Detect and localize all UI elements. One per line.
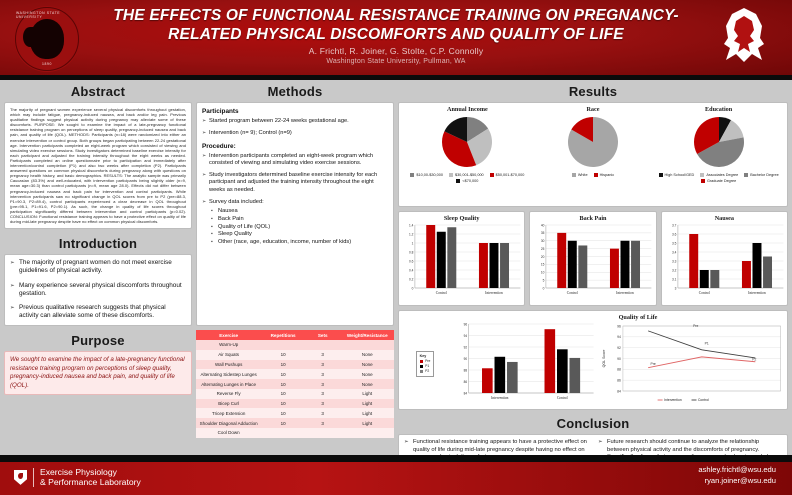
chart-education: Education High School/GEDAssociates Degr… [652, 103, 785, 206]
table-row: Cool Down [196, 428, 394, 438]
col-sets: Sets [305, 330, 341, 340]
legend-item: $50,001-$70,000 [490, 173, 525, 177]
list-item: Started program between 22-24 weeks gest… [202, 118, 388, 125]
procedure-list: Intervention participants completed an e… [202, 153, 388, 207]
y-axis-tick: 0.4 [409, 268, 414, 272]
pie-annual-income [432, 114, 502, 172]
table-cell: 10 [261, 399, 305, 409]
table-cell: 3 [305, 418, 341, 428]
bar [545, 329, 556, 393]
y-axis-tick: 84 [618, 389, 622, 393]
bar [495, 357, 506, 393]
y-axis-tick: 90 [618, 357, 622, 361]
bar [482, 368, 493, 393]
purpose-heading: Purpose [4, 333, 192, 348]
table-cell: 10 [261, 360, 305, 370]
purpose-card: We sought to examine the impact of a lat… [4, 351, 192, 395]
legend-label: P2 [425, 369, 429, 374]
y-axis-tick: 1.2 [409, 232, 414, 236]
x-axis-label: Intervention [491, 396, 508, 400]
participants-heading: Participants [202, 108, 388, 115]
table-cell: Air Squats [196, 350, 261, 360]
y-axis-tick: 30 [541, 239, 545, 243]
table-cell: Reverse Fly [196, 389, 261, 399]
university-crest-icon: WASHINGTON STATE UNIVERSITY 1890 [14, 6, 80, 72]
chart-race: Race WhiteHispanic [534, 103, 653, 206]
list-item: Nausea [211, 208, 388, 216]
table-row: Shoulder Diagonal Adduction103Light [196, 418, 394, 428]
bar [610, 249, 619, 288]
introduction-bullets: The majority of pregnant women do not me… [10, 259, 186, 320]
y-axis-tick: 86 [618, 378, 622, 382]
y-axis-title: QOL Score [602, 350, 606, 368]
table-cell: 10 [261, 369, 305, 379]
legend-annual-income: $10,00-$30,000$30,001-$50,000$50,001-$70… [401, 173, 534, 183]
table-row: Tricep Extension103Light [196, 408, 394, 418]
table-row: Bicep Curl103Light [196, 399, 394, 409]
conclusion-heading: Conclusion [398, 416, 788, 431]
table-header-row: Exercise Repetitions Sets Weight/Resista… [196, 330, 394, 340]
data-annotation: P1 [705, 341, 709, 345]
chart-title: Annual Income [401, 106, 534, 113]
abstract-card: The majority of pregnant women experienc… [4, 102, 192, 229]
y-axis-tick: 3.1 [672, 277, 677, 281]
table-cell [305, 340, 341, 350]
y-axis-tick: 3.5 [672, 241, 677, 245]
table-cell [341, 340, 395, 350]
crest-top-text: WASHINGTON STATE UNIVERSITY [16, 11, 78, 19]
legend-education: High School/GEDAssociates DegreeBachelor… [652, 173, 785, 183]
bar-chart-sleep-quality: 00.20.40.60.811.21.4ControlIntervention [399, 222, 524, 300]
legend-label: <$70,000 [462, 179, 478, 183]
legend-label: $30,001-$50,000 [455, 173, 484, 177]
column-middle: Methods Participants Started program bet… [196, 84, 394, 438]
y-axis-tick: 35 [541, 231, 545, 235]
y-axis-tick: 96 [464, 322, 468, 326]
key-legend-box: Key PreP1P2 [399, 321, 451, 407]
bar [570, 358, 581, 393]
chart-title: Sleep Quality [399, 215, 524, 222]
chart-title: Nausea [662, 215, 787, 222]
chart-qol-line: 84868890929496QOL ScorePrePreP1P2Interve… [597, 321, 787, 407]
y-axis-tick: 3.7 [672, 223, 677, 227]
table-cell: 10 [261, 408, 305, 418]
y-axis-tick: 94 [464, 334, 468, 338]
table-cell [261, 340, 305, 350]
list-item: Other (race, age, education, income, num… [211, 239, 388, 247]
bar [579, 245, 588, 288]
legend-swatch [449, 173, 453, 177]
table-cell: Wall Pushups [196, 360, 261, 370]
y-axis-tick: 5 [543, 278, 545, 282]
x-axis-label: Control [698, 291, 709, 295]
y-axis-tick: 96 [618, 324, 622, 328]
table-cell: 3 [305, 350, 341, 360]
poster-footer: Exercise Physiology & Performance Labora… [0, 455, 792, 495]
legend-label: Graduate Degree [707, 179, 736, 183]
table-cell [305, 428, 341, 438]
table-cell: 3 [305, 369, 341, 379]
legend-item: <$70,000 [456, 179, 478, 183]
legend-swatch [420, 365, 424, 369]
legend-item: $30,001-$50,000 [449, 173, 484, 177]
bar [568, 241, 577, 288]
table-cell: 3 [305, 399, 341, 409]
table-cell: 3 [305, 408, 341, 418]
results-heading: Results [398, 84, 788, 99]
list-item: Sleep Quality [211, 231, 388, 239]
x-axis-label: Intervention [748, 291, 766, 295]
col-weight: Weight/Resistance [341, 330, 395, 340]
data-annotation: Pre [651, 362, 656, 366]
table-cell: 10 [261, 418, 305, 428]
bar [557, 349, 568, 393]
data-annotation: P2 [753, 358, 757, 362]
legend-label: White [578, 173, 588, 177]
bar [631, 241, 640, 288]
y-axis-tick: 0 [543, 286, 545, 290]
page-title: THE EFFECTS OF FUNCTIONAL RESISTANCE TRA… [96, 6, 696, 44]
legend-swatch [456, 179, 460, 183]
table-cell: 10 [261, 379, 305, 389]
table-cell: 10 [261, 389, 305, 399]
email-primary[interactable]: ashley.frichtl@wsu.edu [698, 465, 776, 476]
legend-item: Hispanic [594, 173, 615, 177]
lab-name-line1: Exercise Physiology [40, 467, 141, 477]
y-axis-tick: 86 [464, 380, 468, 384]
legend-label: Intervention [665, 398, 683, 402]
y-axis-tick: 20 [541, 255, 545, 259]
x-axis-label: Intervention [617, 291, 635, 295]
chart-title: Quality of Life [489, 314, 787, 321]
legend-item: Associates Degree [700, 173, 738, 177]
bar [426, 225, 435, 288]
legend-label: Hispanic [600, 173, 615, 177]
affiliation: Washington State University, Pullman, WA [96, 58, 696, 65]
lab-logo: Exercise Physiology & Performance Labora… [14, 467, 141, 488]
y-axis-tick: 10 [541, 271, 545, 275]
exercise-protocol-table: Exercise Repetitions Sets Weight/Resista… [196, 330, 394, 438]
x-axis-label: Control [436, 291, 447, 295]
chart-title: Race [534, 106, 653, 113]
table-cell: Shoulder Diagonal Adduction [196, 418, 261, 428]
table-cell: Warm-Up [196, 340, 261, 350]
chart-annual-income: Annual Income $10,00-$30,000$30,001-$50,… [401, 103, 534, 206]
lab-name-line2: & Performance Laboratory [40, 477, 141, 487]
cougar-logo-icon [714, 4, 776, 70]
table-row: Alternating Lunges in Place103None [196, 379, 394, 389]
poster-root: WASHINGTON STATE UNIVERSITY 1890 THE EFF… [0, 0, 792, 495]
y-axis-tick: 3.2 [672, 268, 677, 272]
table-cell: 3 [305, 389, 341, 399]
table-cell: None [341, 369, 395, 379]
chart-back-pain: Back Pain 0510152025303540ControlInterve… [529, 211, 656, 306]
table-cell: Light [341, 418, 395, 428]
y-axis-tick: 0 [412, 286, 414, 290]
y-axis-tick: 3 [674, 286, 676, 290]
line-chart-qol: 84868890929496QOL ScorePrePreP1P2Interve… [597, 321, 787, 405]
table-row: Alternating Sidestep Lunges103None [196, 369, 394, 379]
table-cell: 3 [305, 360, 341, 370]
col-exercise: Exercise [196, 330, 261, 340]
y-axis-tick: 84 [464, 391, 468, 395]
table-row: Air Squats103None [196, 350, 394, 360]
chart-title: Education [652, 106, 785, 113]
bar [752, 243, 761, 288]
legend-item: Bachelor Degree [744, 173, 779, 177]
y-axis-tick: 40 [541, 223, 545, 227]
list-item: Quality of Life (QOL) [211, 224, 388, 232]
chart-title: Back Pain [530, 215, 655, 222]
y-axis-tick: 1 [412, 241, 414, 245]
procedure-heading: Procedure: [202, 143, 388, 150]
bar [699, 270, 708, 288]
legend-label: Bachelor Degree [750, 173, 779, 177]
legend-item: High School/GED [659, 173, 695, 177]
legend-swatch [700, 173, 704, 177]
bar [558, 233, 567, 288]
legend-swatch [572, 173, 576, 177]
column-right: Results Annual Income $10,00-$30,000$30,… [398, 84, 788, 474]
y-axis-tick: 92 [618, 346, 622, 350]
chart-sleep-quality: Sleep Quality 00.20.40.60.811.21.4Contro… [398, 211, 525, 306]
table-cell: 3 [305, 379, 341, 389]
data-annotation: Pre [694, 324, 699, 328]
bar [479, 243, 488, 288]
bar [500, 243, 509, 288]
legend-label: High School/GED [665, 173, 695, 177]
participants-list: Started program between 22-24 weeks gest… [202, 118, 388, 138]
legend-swatch [594, 173, 598, 177]
table-cell: None [341, 360, 395, 370]
bar [447, 227, 456, 288]
legend-label: $10,00-$30,000 [416, 173, 443, 177]
bar-chart-nausea: 33.13.23.33.43.53.63.7ControlInterventio… [662, 222, 787, 300]
column-left: Abstract The majority of pregnant women … [4, 84, 192, 395]
y-axis-tick: 0.6 [409, 259, 414, 263]
table-cell: Light [341, 399, 395, 409]
table-cell [341, 428, 395, 438]
list-item: Intervention (n= 9); Control (n=9) [202, 130, 388, 137]
list-item: Back Pain [211, 216, 388, 224]
legend-swatch [410, 173, 414, 177]
y-axis-tick: 3.3 [672, 259, 677, 263]
contact-emails: ashley.frichtl@wsu.edu ryan.joiner@wsu.e… [698, 465, 776, 486]
bar [763, 257, 772, 289]
x-axis-label: Control [567, 291, 578, 295]
y-axis-tick: 1.4 [409, 223, 414, 227]
table-cell [261, 428, 305, 438]
bar [742, 261, 751, 288]
legend-item: P2 [420, 369, 431, 374]
key-legend-title: Key [420, 354, 431, 358]
purpose-text: We sought to examine the impact of a lat… [10, 356, 186, 390]
table-row: Reverse Fly103Light [196, 389, 394, 399]
y-axis-tick: 88 [464, 368, 468, 372]
y-axis-tick: 0.2 [409, 277, 414, 281]
list-item: Intervention participants completed an e… [202, 153, 388, 168]
y-axis-tick: 3.4 [672, 250, 677, 254]
author-list: A. Frichtl, R. Joiner, G. Stolte, C.P. C… [96, 46, 696, 56]
legend-item: White [572, 173, 588, 177]
line-series [649, 331, 756, 358]
crest-bottom-text: 1890 [42, 62, 52, 66]
table-cell: Cool Down [196, 428, 261, 438]
bar [490, 243, 499, 288]
col-repetitions: Repetitions [261, 330, 305, 340]
table-cell: Alternating Lunges in Place [196, 379, 261, 389]
email-secondary[interactable]: ryan.joiner@wsu.edu [698, 476, 776, 487]
legend-label: Associates Degree [706, 173, 738, 177]
cougar-shield-icon [14, 470, 27, 485]
pie-race [558, 114, 628, 172]
table-cell: None [341, 350, 395, 360]
legend-swatch [701, 179, 705, 183]
bar-chart-qol: 84868890929496InterventionControl [451, 321, 597, 405]
table-cell: Bicep Curl [196, 399, 261, 409]
table-row: Warm-Up [196, 340, 394, 350]
table-cell: None [341, 379, 395, 389]
list-item: The majority of pregnant women do not me… [10, 259, 186, 275]
list-item: Study investigators determined baseline … [202, 172, 388, 194]
legend-swatch [744, 173, 748, 177]
demographics-charts-panel: Annual Income $10,00-$30,000$30,001-$50,… [398, 102, 788, 207]
legend-race: WhiteHispanic [534, 173, 653, 177]
bar [437, 232, 446, 288]
table-cell: 10 [261, 350, 305, 360]
footer-black-bar [0, 455, 792, 462]
survey-items-list: Nausea Back Pain Quality of Life (QOL) S… [211, 208, 388, 246]
y-axis-tick: 92 [464, 345, 468, 349]
legend-swatch [420, 360, 424, 364]
abstract-heading: Abstract [4, 84, 192, 99]
abstract-text: The majority of pregnant women experienc… [10, 107, 186, 224]
legend-label: Control [698, 398, 709, 402]
list-item: Previous qualitative research suggests t… [10, 304, 186, 320]
legend-label: $50,001-$70,000 [496, 173, 525, 177]
y-axis-tick: 15 [541, 263, 545, 267]
x-axis-label: Intervention [485, 291, 503, 295]
legend-item: Graduate Degree [701, 179, 736, 183]
table-row: Wall Pushups103None [196, 360, 394, 370]
introduction-heading: Introduction [4, 236, 192, 251]
bar [710, 270, 719, 288]
table-cell: Light [341, 389, 395, 399]
bar [507, 362, 518, 393]
y-axis-tick: 3.6 [672, 232, 677, 236]
table-cell: Light [341, 408, 395, 418]
bar [621, 241, 630, 288]
methods-heading: Methods [196, 84, 394, 99]
legend-swatch [659, 173, 663, 177]
y-axis-tick: 88 [618, 368, 622, 372]
divider [33, 468, 34, 487]
x-axis-label: Control [557, 396, 568, 400]
table-cell: Tricep Extension [196, 408, 261, 418]
legend-swatch [420, 370, 424, 374]
y-axis-tick: 94 [618, 335, 622, 339]
lab-name: Exercise Physiology & Performance Labora… [40, 467, 141, 488]
legend-swatch [490, 173, 494, 177]
list-item: Many experience several physical discomf… [10, 282, 186, 298]
poster-body: Abstract The majority of pregnant women … [0, 80, 792, 455]
chart-nausea: Nausea 33.13.23.33.43.53.63.7ControlInte… [661, 211, 788, 306]
introduction-card: The majority of pregnant women do not me… [4, 254, 192, 326]
table-cell: Alternating Sidestep Lunges [196, 369, 261, 379]
methods-card: Participants Started program between 22-… [196, 102, 394, 326]
legend-item: $10,00-$30,000 [410, 173, 443, 177]
qol-charts-panel: Quality of Life Key PreP1P2 848688909294… [398, 310, 788, 410]
list-item: Survey data included: [202, 199, 388, 206]
bar [689, 234, 698, 288]
poster-header: WASHINGTON STATE UNIVERSITY 1890 THE EFF… [0, 0, 792, 80]
y-axis-tick: 90 [464, 357, 468, 361]
y-axis-tick: 0.8 [409, 250, 414, 254]
y-axis-tick: 25 [541, 247, 545, 251]
chart-qol-bar: 84868890929496InterventionControl [451, 321, 597, 407]
pie-education [684, 114, 754, 172]
bar-chart-back-pain: 0510152025303540ControlIntervention [530, 222, 655, 300]
crest-silhouette-icon [30, 19, 64, 59]
